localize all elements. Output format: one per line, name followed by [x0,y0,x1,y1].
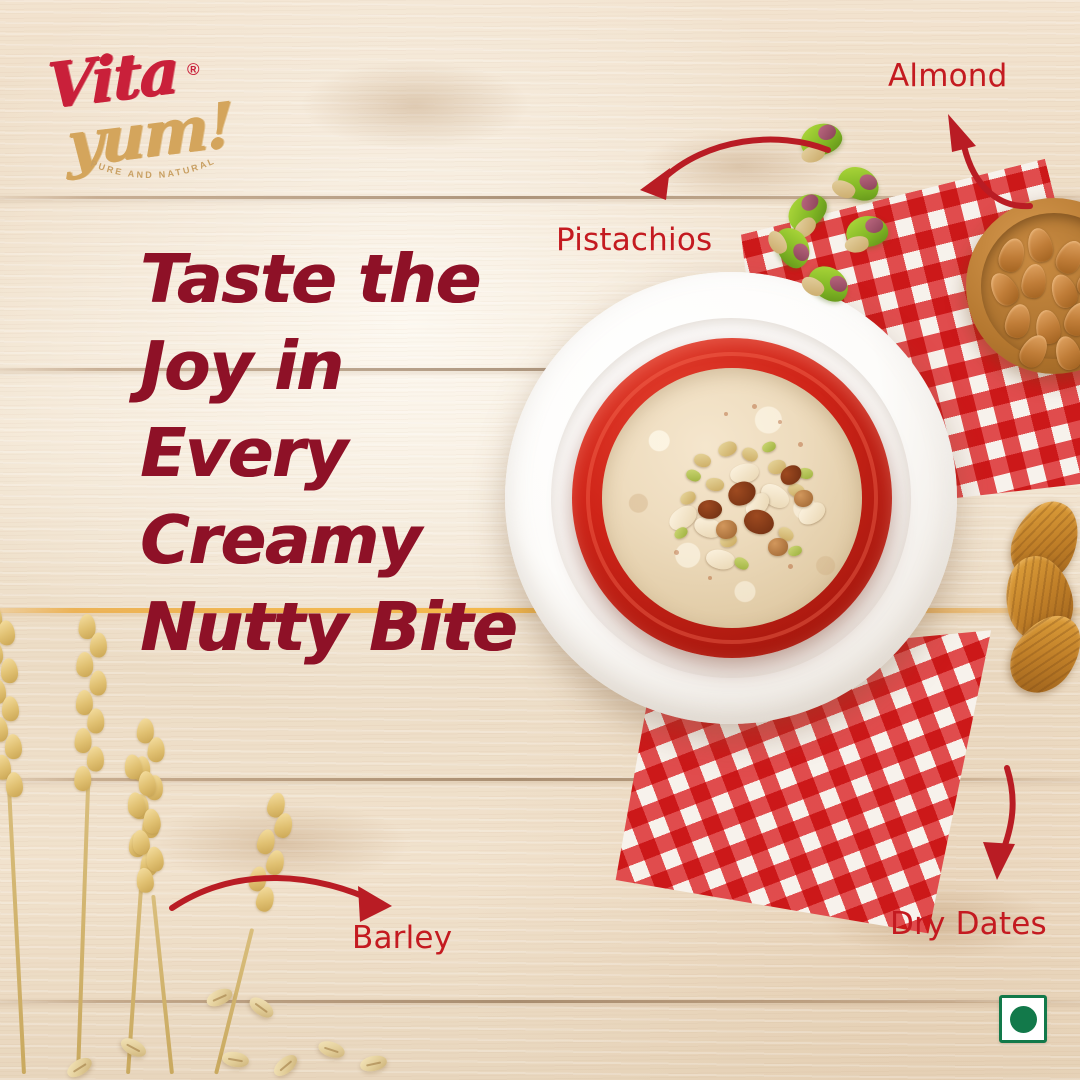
hazelnut-bit [768,538,788,556]
hazelnut-bit [794,490,813,507]
callout-label-almond: Almond [888,58,1008,94]
callout-label-dry-dates: Dry Dates [890,906,1047,942]
poster-canvas: Vita ® yum! PURE AND NATURAL Taste the J… [0,0,1080,1080]
callout-label-barley: Barley [352,920,452,956]
hazelnut-bit [716,520,737,539]
red-bowl [572,338,892,658]
headline-line-5: Nutty Bite [140,584,570,671]
dry-dates-arrow-icon [955,764,1045,894]
vegetarian-mark-icon [999,995,1047,1043]
logo-tagline-text: PURE AND NATURAL [89,155,217,180]
headline-line-2: Joy in [140,323,570,410]
brand-logo: Vita ® yum! PURE AND NATURAL [44,38,234,178]
registered-trademark-icon: ® [187,60,200,80]
headline-block: Taste the Joy in Every Creamy Nutty Bite [140,236,570,671]
almond-arrow-icon [930,108,1040,228]
wood-knot [300,60,530,150]
logo-tagline: PURE AND NATURAL [84,158,224,188]
headline-line-1: Taste the [140,236,570,323]
callout-label-pistachios: Pistachios [556,222,712,258]
vegetarian-mark-dot [1010,1006,1037,1033]
pistachios-arrow-icon [628,128,838,228]
porridge-kheer [602,368,862,628]
